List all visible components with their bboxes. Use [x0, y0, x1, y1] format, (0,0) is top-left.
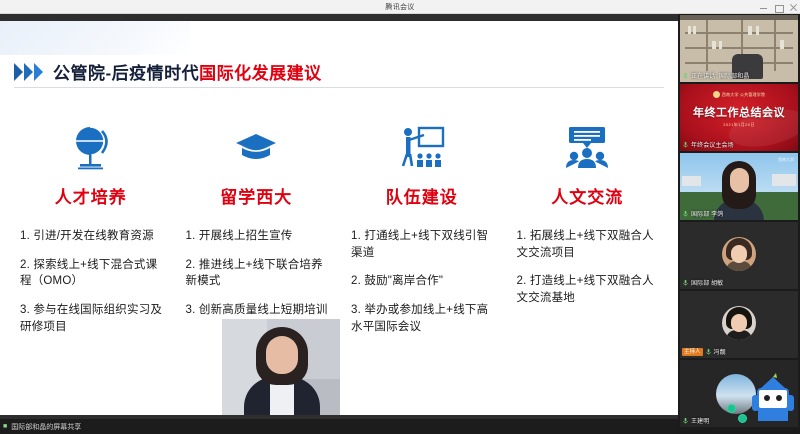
slide-column-1: 人才培养 1. 引进/开发在线教育资源 2. 探索线上+线下混合式课程（OMO）…: [8, 117, 174, 347]
participant-tile-5[interactable]: 主持人 冯靓: [680, 291, 798, 358]
list-item: 2. 推进线上+线下联合培养新模式: [186, 257, 332, 290]
window-title: 腾讯会议: [385, 2, 414, 12]
presenter-classroom-icon: [347, 117, 497, 179]
graduation-cap-icon: [182, 117, 332, 179]
screen-share-label: 国际部和晶的屏幕共享: [11, 422, 81, 432]
screen-share-icon: ■: [3, 423, 7, 430]
slide-columns: 人才培养 1. 引进/开发在线教育资源 2. 探索线上+线下混合式课程（OMO）…: [8, 117, 670, 347]
mic-on-icon: [682, 72, 689, 79]
participant-label: 正在讲话: 国际部和晶: [682, 71, 749, 80]
slide-title-accent: 国际化发展建议: [199, 64, 322, 83]
participant-tile-6[interactable]: 王建明: [680, 360, 798, 427]
participant-name: 冯靓: [714, 347, 726, 356]
avatar: [722, 237, 756, 271]
participant-label: 国际部 胡敏: [682, 278, 723, 287]
shared-screen-stage[interactable]: 公管院-后疫情时代国际化发展建议: [0, 14, 678, 419]
presentation-slide: 公管院-后疫情时代国际化发展建议: [0, 21, 678, 415]
column-heading: 队伍建设: [347, 183, 497, 208]
title-divider: [14, 87, 664, 88]
participant-video-rail[interactable]: 正在讲话: 国际部和晶 西南大学 公共管理学院 年终工作总结会议 2021年1月…: [678, 14, 800, 434]
presenter-video-overlay[interactable]: [222, 319, 340, 415]
list-item: 2. 探索线上+线下混合式课程（OMO）: [20, 257, 166, 290]
column-heading: 留学西大: [182, 183, 332, 208]
slide-column-4: 人文交流 1. 拓展线上+线下双融合人文交流项目 2. 打造线上+线下双融合人文…: [505, 117, 671, 347]
column-list: 1. 打通线上+线下双线引智渠道 2. 鼓励"离岸合作" 3. 举办或参加线上+…: [347, 228, 497, 335]
mascot-icon: [752, 373, 794, 425]
list-item: 1. 开展线上招生宣传: [186, 228, 332, 245]
participant-tile-4[interactable]: 国际部 胡敏: [680, 222, 798, 289]
participant-label: 主持人 冯靓: [682, 347, 726, 356]
list-item: 1. 引进/开发在线教育资源: [20, 228, 166, 245]
slide-title: 公管院-后疫情时代国际化发展建议: [14, 59, 322, 84]
reaction-icon: [727, 404, 736, 413]
app-body: 公管院-后疫情时代国际化发展建议: [0, 14, 800, 434]
list-item: 3. 参与在线国际组织实习及研修项目: [20, 302, 166, 335]
list-item: 1. 拓展线上+线下双融合人文交流项目: [517, 228, 663, 261]
window-title-bar: 腾讯会议: [0, 0, 800, 14]
avatar: [722, 306, 756, 340]
participant-label: 年终会议主会场: [682, 140, 734, 149]
screen-share-bar: ■ 国际部和晶的屏幕共享: [0, 419, 678, 434]
list-item: 3. 创新高质量线上短期培训: [186, 302, 332, 319]
video-watermark: 西南大学: [778, 157, 794, 163]
participant-label: 国际部 李鸽: [682, 209, 723, 218]
host-badge: 主持人: [682, 348, 703, 356]
participant-tile-3[interactable]: 西南大学 国际部 李鸽: [680, 153, 798, 220]
list-item: 2. 鼓励"离岸合作": [351, 273, 497, 290]
globe-icon: [16, 117, 166, 179]
slide-column-3: 队伍建设 1. 打通线上+线下双线引智渠道 2. 鼓励"离岸合作" 3. 举办或…: [339, 117, 505, 347]
slide-column-2: 留学西大 1. 开展线上招生宣传 2. 推进线上+线下联合培养新模式 3. 创新…: [174, 117, 340, 347]
tencent-meeting-window: 腾讯会议 公管院-后疫情时代国际化发展建议: [0, 0, 800, 434]
mic-on-icon: [705, 348, 712, 355]
participant-label: 王建明: [682, 416, 709, 425]
people-presentation-icon: [513, 117, 663, 179]
column-list: 1. 开展线上招生宣传 2. 推进线上+线下联合培养新模式 3. 创新高质量线上…: [182, 228, 332, 319]
list-item: 1. 打通线上+线下双线引智渠道: [351, 228, 497, 261]
slide-title-primary: 公管院-后疫情时代: [53, 64, 199, 83]
participant-tile-1[interactable]: 正在讲话: 国际部和晶: [680, 15, 798, 82]
column-list: 1. 拓展线上+线下双融合人文交流项目 2. 打造线上+线下双融合人文交流基地: [513, 228, 663, 307]
reaction-icon: [738, 414, 747, 423]
column-list: 1. 引进/开发在线教育资源 2. 探索线上+线下混合式课程（OMO） 3. 参…: [16, 228, 166, 335]
maximize-icon[interactable]: [774, 3, 783, 12]
participant-tile-2[interactable]: 西南大学 公共管理学院 年终工作总结会议 2021年1月20日 年终会议主会场: [680, 84, 798, 151]
window-controls: [759, 0, 798, 14]
mic-on-icon: [682, 141, 689, 148]
participant-name: 年终会议主会场: [691, 140, 734, 149]
column-heading: 人文交流: [513, 183, 663, 208]
mic-on-icon: [682, 279, 689, 286]
university-logo-icon: [713, 91, 720, 98]
participant-name: 国际部 胡敏: [691, 278, 723, 287]
mic-on-icon: [682, 417, 689, 424]
close-icon[interactable]: [789, 3, 798, 12]
participant-name: 国际部 李鸽: [691, 209, 723, 218]
minimize-icon[interactable]: [759, 3, 768, 12]
avatar: [716, 374, 756, 414]
column-heading: 人才培养: [16, 183, 166, 208]
participant-name: 正在讲话: 国际部和晶: [691, 71, 749, 80]
participant-name: 王建明: [691, 416, 709, 425]
list-item: 3. 举办或参加线上+线下高水平国际会议: [351, 302, 497, 335]
banner-logo-text: 西南大学 公共管理学院: [722, 92, 765, 98]
list-item: 2. 打造线上+线下双融合人文交流基地: [517, 273, 663, 306]
mic-on-icon: [682, 210, 689, 217]
chevron-right-icon: [14, 63, 43, 81]
